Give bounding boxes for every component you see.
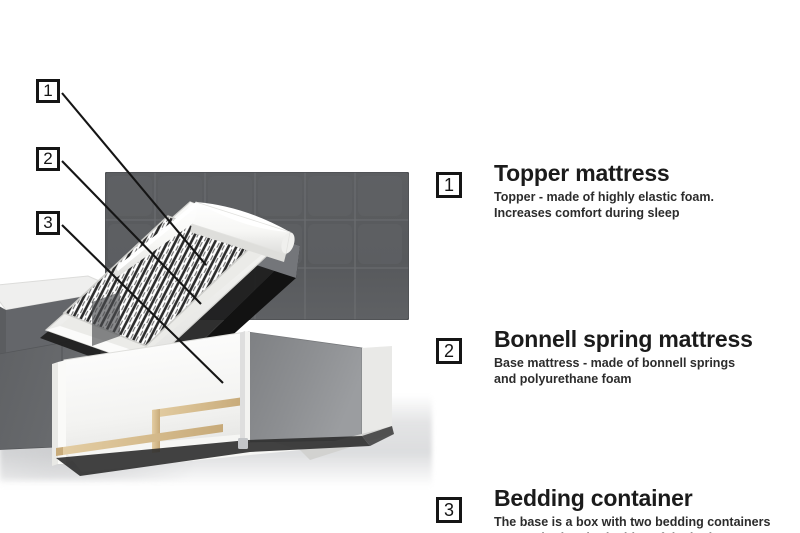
legend-description-1-line1: Topper - made of highly elastic foam. [494, 190, 714, 204]
legend-description-3-line1: The base is a box with two bedding conta… [494, 515, 770, 529]
legend-badge-3: 3 [436, 497, 462, 523]
legend-badge-2: 2 [436, 338, 462, 364]
callout-badge-1: 1 [36, 79, 60, 103]
legend-item-bedding-container: 3 Bedding container The base is a box wi… [436, 485, 796, 533]
legend-heading-2: Bonnell spring mattress [494, 326, 796, 352]
container-front-panel [248, 332, 362, 442]
legend-heading-3: Bedding container [494, 485, 796, 511]
legend-description-2-line2: and polyurethane foam [494, 372, 632, 386]
legend-panel: 1 Topper mattress Topper - made of highl… [436, 160, 796, 343]
legend-description-1: Topper - made of highly elastic foam. In… [494, 190, 796, 221]
legend-description-2-line1: Base mattress - made of bonnell springs [494, 356, 735, 370]
callout-badge-3: 3 [36, 211, 60, 235]
bed-illustration [0, 150, 432, 480]
legend-heading-1: Topper mattress [494, 160, 796, 186]
legend-description-2: Base mattress - made of bonnell springs … [494, 356, 796, 387]
bed-construction-diagram: 1 2 3 1 Topper mattress Topper - made of… [0, 0, 800, 533]
legend-description-1-line2: Increases comfort during sleep [494, 206, 679, 220]
legend-item-topper-mattress: 1 Topper mattress Topper - made of highl… [436, 160, 796, 221]
legend-description-3: The base is a box with two bedding conta… [494, 515, 796, 533]
legend-badge-1: 1 [436, 172, 462, 198]
legend-item-bonnell-spring-mattress: 2 Bonnell spring mattress Base mattress … [436, 326, 796, 387]
callout-badge-2: 2 [36, 147, 60, 171]
